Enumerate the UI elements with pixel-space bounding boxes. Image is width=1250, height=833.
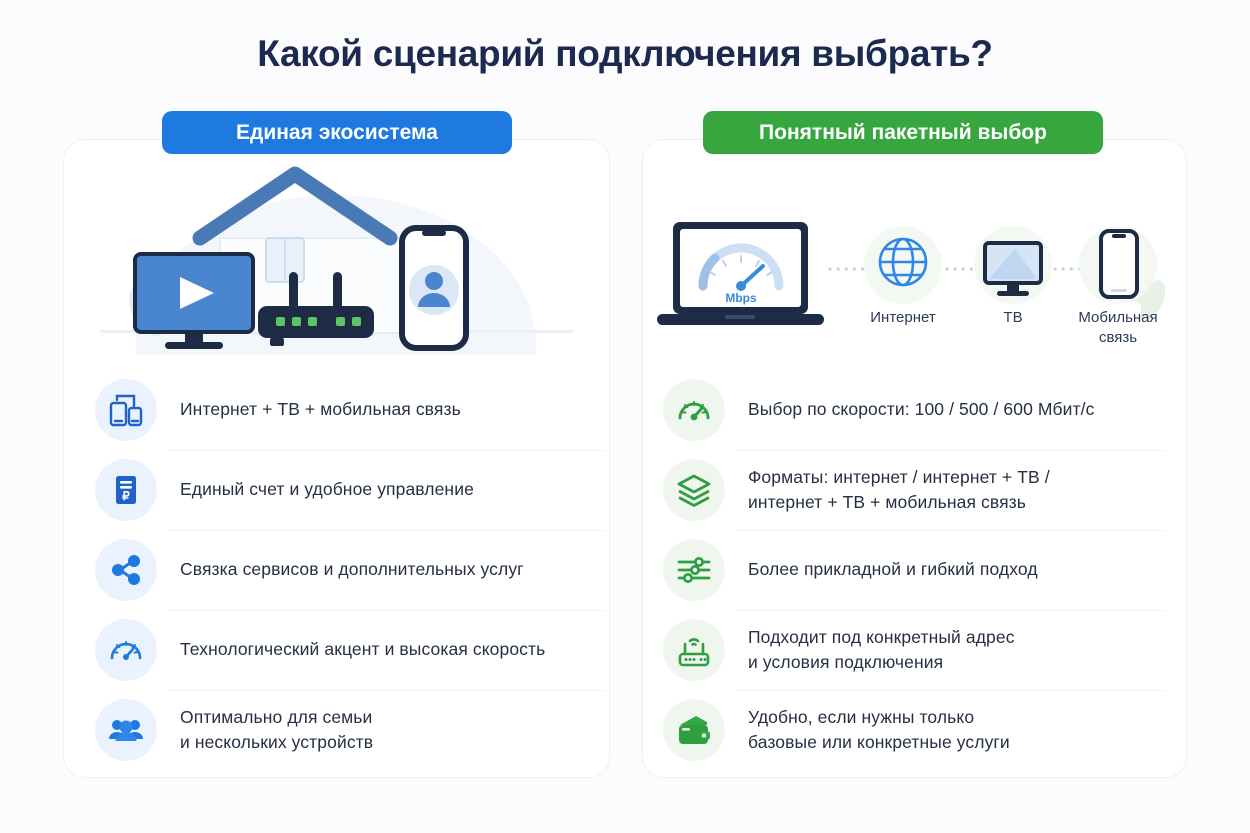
- sliders-icon: [663, 539, 725, 601]
- list-item-label: Подходит под конкретный адрес и условия …: [748, 625, 1015, 676]
- list-item[interactable]: Технологический акцент и высокая скорост…: [95, 610, 615, 690]
- page-title: Какой сценарий подключения выбрать?: [0, 33, 1250, 75]
- speedometer-icon: [95, 619, 157, 681]
- home-ecosystem-illustration: [80, 160, 593, 355]
- list-item[interactable]: Оптимально для семьи и нескольких устрой…: [95, 690, 615, 770]
- wallet-icon: [663, 699, 725, 761]
- wifi-router-icon: [663, 619, 725, 681]
- list-item-label: Единый счет и удобное управление: [180, 477, 474, 502]
- list-item[interactable]: ₽ Единый счет и удобное управление: [95, 450, 615, 530]
- node-tv: ТВ: [974, 226, 1052, 326]
- list-item-label: Связка сервисов и дополнительных услуг: [180, 557, 524, 582]
- laptop-speed-label: Mbps: [725, 291, 757, 305]
- speedometer-icon: [663, 379, 725, 441]
- share-nodes-icon: [95, 539, 157, 601]
- node-label: ТВ: [1003, 309, 1022, 326]
- left-feature-list: Интернет + ТВ + мобильная связь ₽ Единый…: [95, 370, 615, 770]
- node-internet: Интернет: [864, 226, 942, 326]
- list-item[interactable]: Связка сервисов и дополнительных услуг: [95, 530, 615, 610]
- laptop-speed-icon: Mbps: [657, 222, 824, 325]
- list-item-label: Форматы: интернет / интернет + ТВ / инте…: [748, 465, 1050, 516]
- list-item[interactable]: Форматы: интернет / интернет + ТВ / инте…: [663, 450, 1175, 530]
- family-group-icon: [95, 699, 157, 761]
- list-item-label: Интернет + ТВ + мобильная связь: [180, 397, 461, 422]
- node-label: связь: [1099, 329, 1137, 346]
- list-item[interactable]: Удобно, если нужны только базовые или ко…: [663, 690, 1175, 770]
- list-item-label: Технологический акцент и высокая скорост…: [180, 637, 545, 662]
- list-item[interactable]: Интернет + ТВ + мобильная связь: [95, 370, 615, 450]
- ruble-invoice-icon: ₽: [95, 459, 157, 521]
- list-item[interactable]: Подходит под конкретный адрес и условия …: [663, 610, 1175, 690]
- list-item-label: Более прикладной и гибкий подход: [748, 557, 1038, 582]
- svg-text:₽: ₽: [122, 489, 130, 503]
- list-item-label: Удобно, если нужны только базовые или ко…: [748, 705, 1010, 756]
- node-label: Мобильная: [1078, 309, 1157, 326]
- node-label: Интернет: [870, 309, 936, 326]
- devices-icon: [95, 379, 157, 441]
- node-mobile: Мобильная связь: [1078, 226, 1157, 346]
- list-item-label: Оптимально для семьи и нескольких устрой…: [180, 705, 373, 756]
- layers-icon: [663, 459, 725, 521]
- service-chain-illustration: Mbps Интернет: [655, 212, 1170, 362]
- list-item[interactable]: Более прикладной и гибкий подход: [663, 530, 1175, 610]
- list-item[interactable]: Выбор по скорости: 100 / 500 / 600 Мбит/…: [663, 370, 1175, 450]
- right-feature-list: Выбор по скорости: 100 / 500 / 600 Мбит/…: [663, 370, 1175, 770]
- list-item-label: Выбор по скорости: 100 / 500 / 600 Мбит/…: [748, 397, 1094, 422]
- right-card-badge: Понятный пакетный выбор: [703, 111, 1103, 154]
- left-card-badge: Единая экосистема: [162, 111, 512, 154]
- infographic-page: Какой сценарий подключения выбрать? Един…: [0, 0, 1250, 833]
- smartphone-user-icon: [402, 228, 466, 348]
